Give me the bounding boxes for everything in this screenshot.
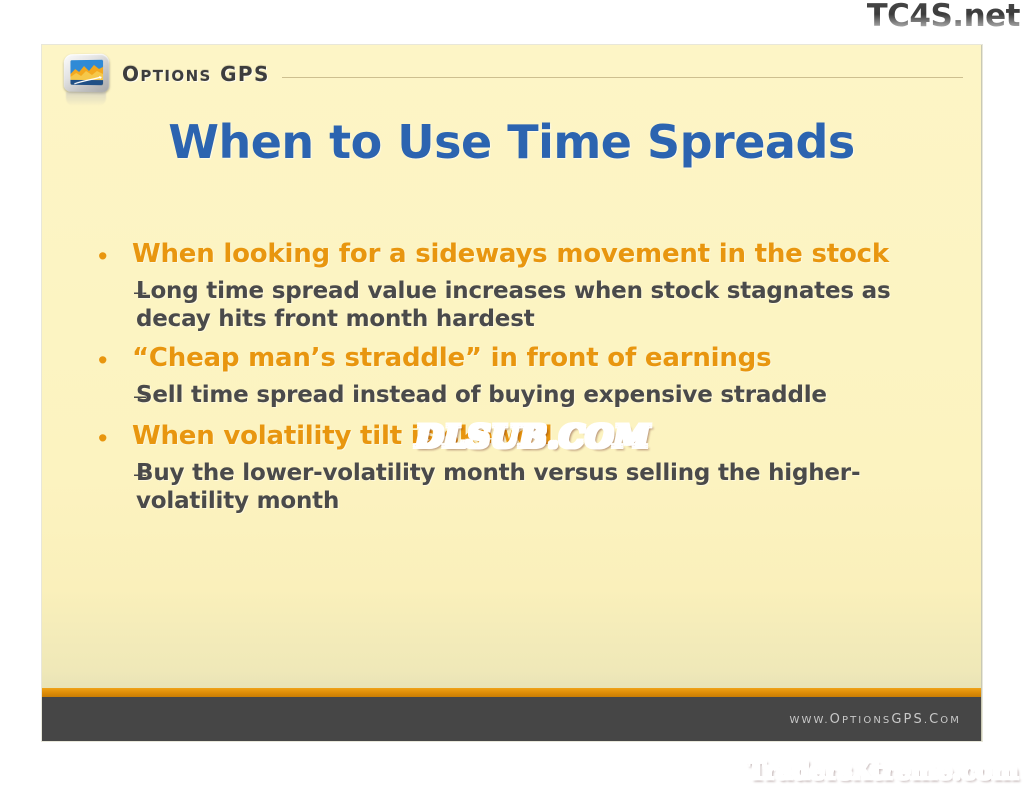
bullet-marker-icon: • xyxy=(90,343,132,377)
tradersxtreme-brand-watermark: TradersXtreme.com xyxy=(747,756,1018,785)
footer-url-gps: GPS xyxy=(891,712,923,727)
list-item: – Buy the lower-volatility month versus … xyxy=(90,459,950,515)
dash-marker-icon: – xyxy=(90,277,136,307)
bullet-list: • When looking for a sideways movement i… xyxy=(90,239,950,519)
list-item: • When looking for a sideways movement i… xyxy=(90,239,950,273)
slide-footer: WWW.OPTIONSGPS.COM xyxy=(42,697,981,741)
device-screen xyxy=(70,60,103,85)
gps-device-chart-icon xyxy=(60,53,112,95)
wordmark-o: O xyxy=(122,62,140,86)
wordmark-gps: GPS xyxy=(220,62,270,86)
footer-url: WWW.OPTIONSGPS.COM xyxy=(790,712,961,727)
dash-marker-icon: – xyxy=(90,459,136,489)
sub-bullet-text: Long time spread value increases when st… xyxy=(136,277,950,333)
bullet-marker-icon: • xyxy=(90,239,132,273)
footer-url-options: PTIONS xyxy=(842,715,891,726)
sub-bullet-text: Sell time spread instead of buying expen… xyxy=(136,381,950,409)
dlsub-watermark: DLSUB.COM xyxy=(410,418,655,456)
tc4s-brand-watermark: TC4S.net xyxy=(867,0,1020,34)
bullet-text: “Cheap man’s straddle” in front of earni… xyxy=(132,343,950,374)
presentation-slide: OPTIONS GPS When to Use Time Spreads • W… xyxy=(42,45,982,741)
footer-url-www: WWW. xyxy=(790,715,830,726)
footer-url-c: C xyxy=(929,712,940,727)
screenshot-root: TC4S.net OPTIONS GPS xyxy=(0,0,1024,791)
list-item: • “Cheap man’s straddle” in front of ear… xyxy=(90,343,950,377)
list-item: – Long time spread value increases when … xyxy=(90,277,950,333)
slide-header: OPTIONS GPS xyxy=(42,45,981,103)
wordmark-space xyxy=(212,62,220,86)
footer-url-o: O xyxy=(830,712,842,727)
bullet-text: When looking for a sideways movement in … xyxy=(132,239,950,270)
header-divider xyxy=(282,77,963,78)
footer-accent-stripe xyxy=(42,688,981,697)
sub-bullet-text: Buy the lower-volatility month versus se… xyxy=(136,459,950,515)
bullet-marker-icon: • xyxy=(90,421,132,455)
dash-marker-icon: – xyxy=(90,381,136,411)
list-item: – Sell time spread instead of buying exp… xyxy=(90,381,950,411)
footer-url-om: OM xyxy=(940,715,961,726)
wordmark-options: PTIONS xyxy=(140,67,211,85)
page-title: When to Use Time Spreads xyxy=(42,115,981,169)
options-gps-wordmark: OPTIONS GPS xyxy=(122,62,270,86)
device-reflection xyxy=(66,92,106,106)
